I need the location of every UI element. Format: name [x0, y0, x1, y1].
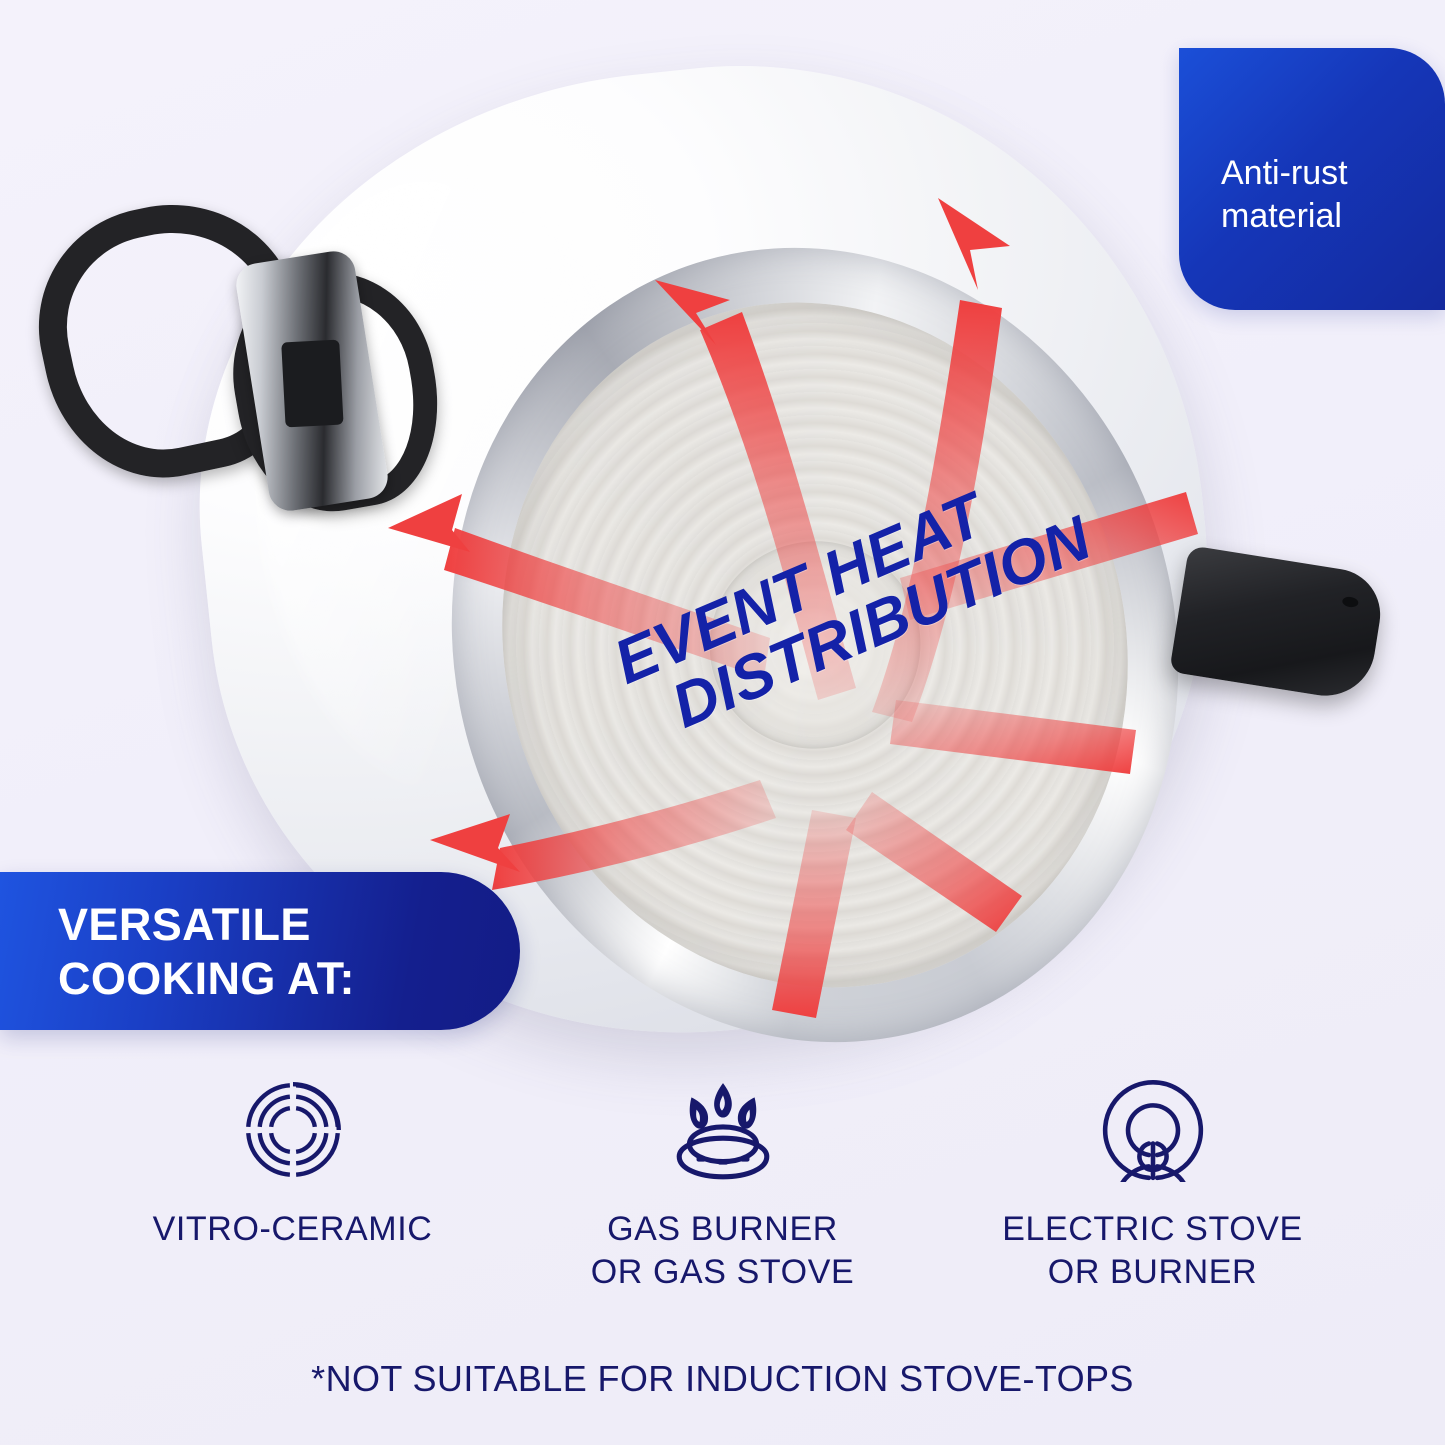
- induction-disclaimer: *NOT SUITABLE FOR INDUCTION STOVE-TOPS: [0, 1358, 1445, 1400]
- cooktop-caption-line1: GAS BURNER: [508, 1208, 938, 1251]
- cooktop-caption-line1: VITRO-CERAMIC: [78, 1208, 508, 1251]
- heat-arrowhead-lower-left: [430, 814, 520, 872]
- cooktop-compatibility-row: VITRO-CERAMIC: [0, 1070, 1445, 1294]
- cooktop-caption-gas-burner: GAS BURNER OR GAS STOVE: [508, 1208, 938, 1294]
- heat-ray-bottom: [772, 810, 856, 1018]
- heat-ray-bottom-right: [846, 792, 1022, 932]
- cooktop-item-vitro-ceramic: VITRO-CERAMIC: [78, 1070, 508, 1251]
- anti-rust-badge: Anti-rust material: [1179, 48, 1445, 310]
- anti-rust-line2: material: [1221, 195, 1445, 238]
- heat-ray-lower-right: [890, 700, 1136, 774]
- vitro-ceramic-icon: [78, 1070, 508, 1190]
- electric-stove-icon: [938, 1070, 1368, 1190]
- infographic-canvas: EVENT HEAT DISTRIBUTION Anti-rust materi…: [0, 0, 1445, 1445]
- cooktop-caption-line2: OR GAS STOVE: [508, 1251, 938, 1294]
- cooktop-item-electric-stove: ELECTRIC STOVE OR BURNER: [938, 1070, 1368, 1294]
- versatile-line1: VERSATILE: [58, 898, 520, 952]
- anti-rust-line1: Anti-rust: [1221, 152, 1445, 195]
- heat-arrowhead-left: [388, 494, 470, 552]
- versatile-line2: COOKING AT:: [58, 952, 520, 1006]
- cooktop-caption-vitro-ceramic: VITRO-CERAMIC: [78, 1208, 508, 1251]
- heat-arrow-lower-left: [492, 780, 776, 890]
- gas-burner-icon: [508, 1070, 938, 1190]
- heat-arrowhead-up-right: [938, 198, 1010, 290]
- cooktop-caption-line2: OR BURNER: [938, 1251, 1368, 1294]
- versatile-cooking-badge: VERSATILE COOKING AT:: [0, 872, 520, 1030]
- cooktop-caption-line1: ELECTRIC STOVE: [938, 1208, 1368, 1251]
- cooktop-caption-electric-stove: ELECTRIC STOVE OR BURNER: [938, 1208, 1368, 1294]
- cooktop-item-gas-burner: GAS BURNER OR GAS STOVE: [508, 1070, 938, 1294]
